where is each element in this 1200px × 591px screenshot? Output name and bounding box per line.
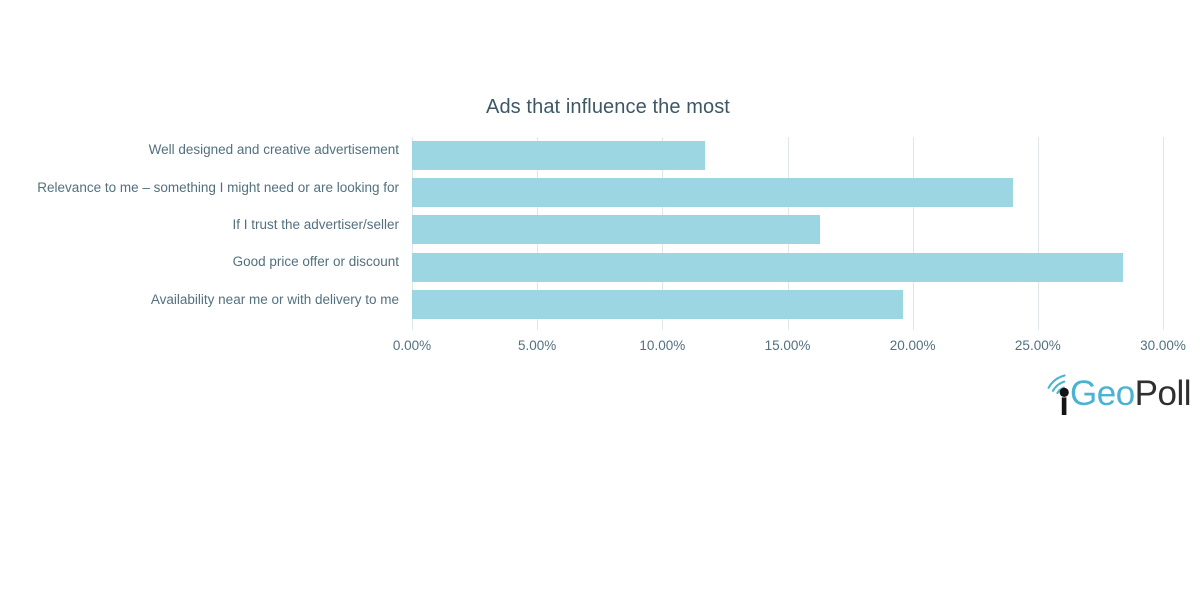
geopoll-wordmark: GeoPoll	[1070, 373, 1191, 415]
bar[interactable]	[412, 178, 1013, 207]
bar[interactable]	[412, 215, 820, 244]
bar-row[interactable]	[412, 211, 1163, 248]
bar-row[interactable]	[412, 137, 1163, 174]
category-label: Well designed and creative advertisement	[0, 142, 399, 157]
bar-row[interactable]	[412, 249, 1163, 286]
bar-row[interactable]	[412, 174, 1163, 211]
bar[interactable]	[412, 290, 903, 319]
logo-text-geo: Geo	[1070, 374, 1135, 413]
bar[interactable]	[412, 253, 1123, 282]
bar-chart-figure: Ads that influence the most Well designe…	[0, 0, 1200, 591]
category-axis-labels: Well designed and creative advertisement…	[0, 137, 399, 323]
gridline	[1163, 137, 1164, 330]
category-label: Relevance to me – something I might need…	[0, 180, 399, 195]
category-label: Availability near me or with delivery to…	[0, 292, 399, 307]
bar-row[interactable]	[412, 286, 1163, 323]
logo-text-poll: Poll	[1135, 374, 1191, 413]
axis-tick-label: 20.00%	[853, 338, 973, 353]
axis-tick-label: 10.00%	[602, 338, 722, 353]
chart-title: Ads that influence the most	[0, 96, 1200, 119]
axis-tick-label: 25.00%	[978, 338, 1098, 353]
axis-tick-label: 0.00%	[352, 338, 472, 353]
axis-tick-label: 5.00%	[477, 338, 597, 353]
bar[interactable]	[412, 141, 705, 170]
geopoll-logo: GeoPoll	[1040, 372, 1185, 416]
axis-tick-label: 15.00%	[728, 338, 848, 353]
axis-tick-label: 30.00%	[1103, 338, 1200, 353]
chart-title-text: Ads that influence the most	[486, 96, 730, 119]
plot-area	[412, 137, 1163, 323]
category-label: Good price offer or discount	[0, 254, 399, 269]
value-axis-labels: 0.00%5.00%10.00%15.00%20.00%25.00%30.00%	[0, 338, 1200, 358]
category-label: If I trust the advertiser/seller	[0, 217, 399, 232]
signal-i-icon	[1040, 372, 1074, 416]
